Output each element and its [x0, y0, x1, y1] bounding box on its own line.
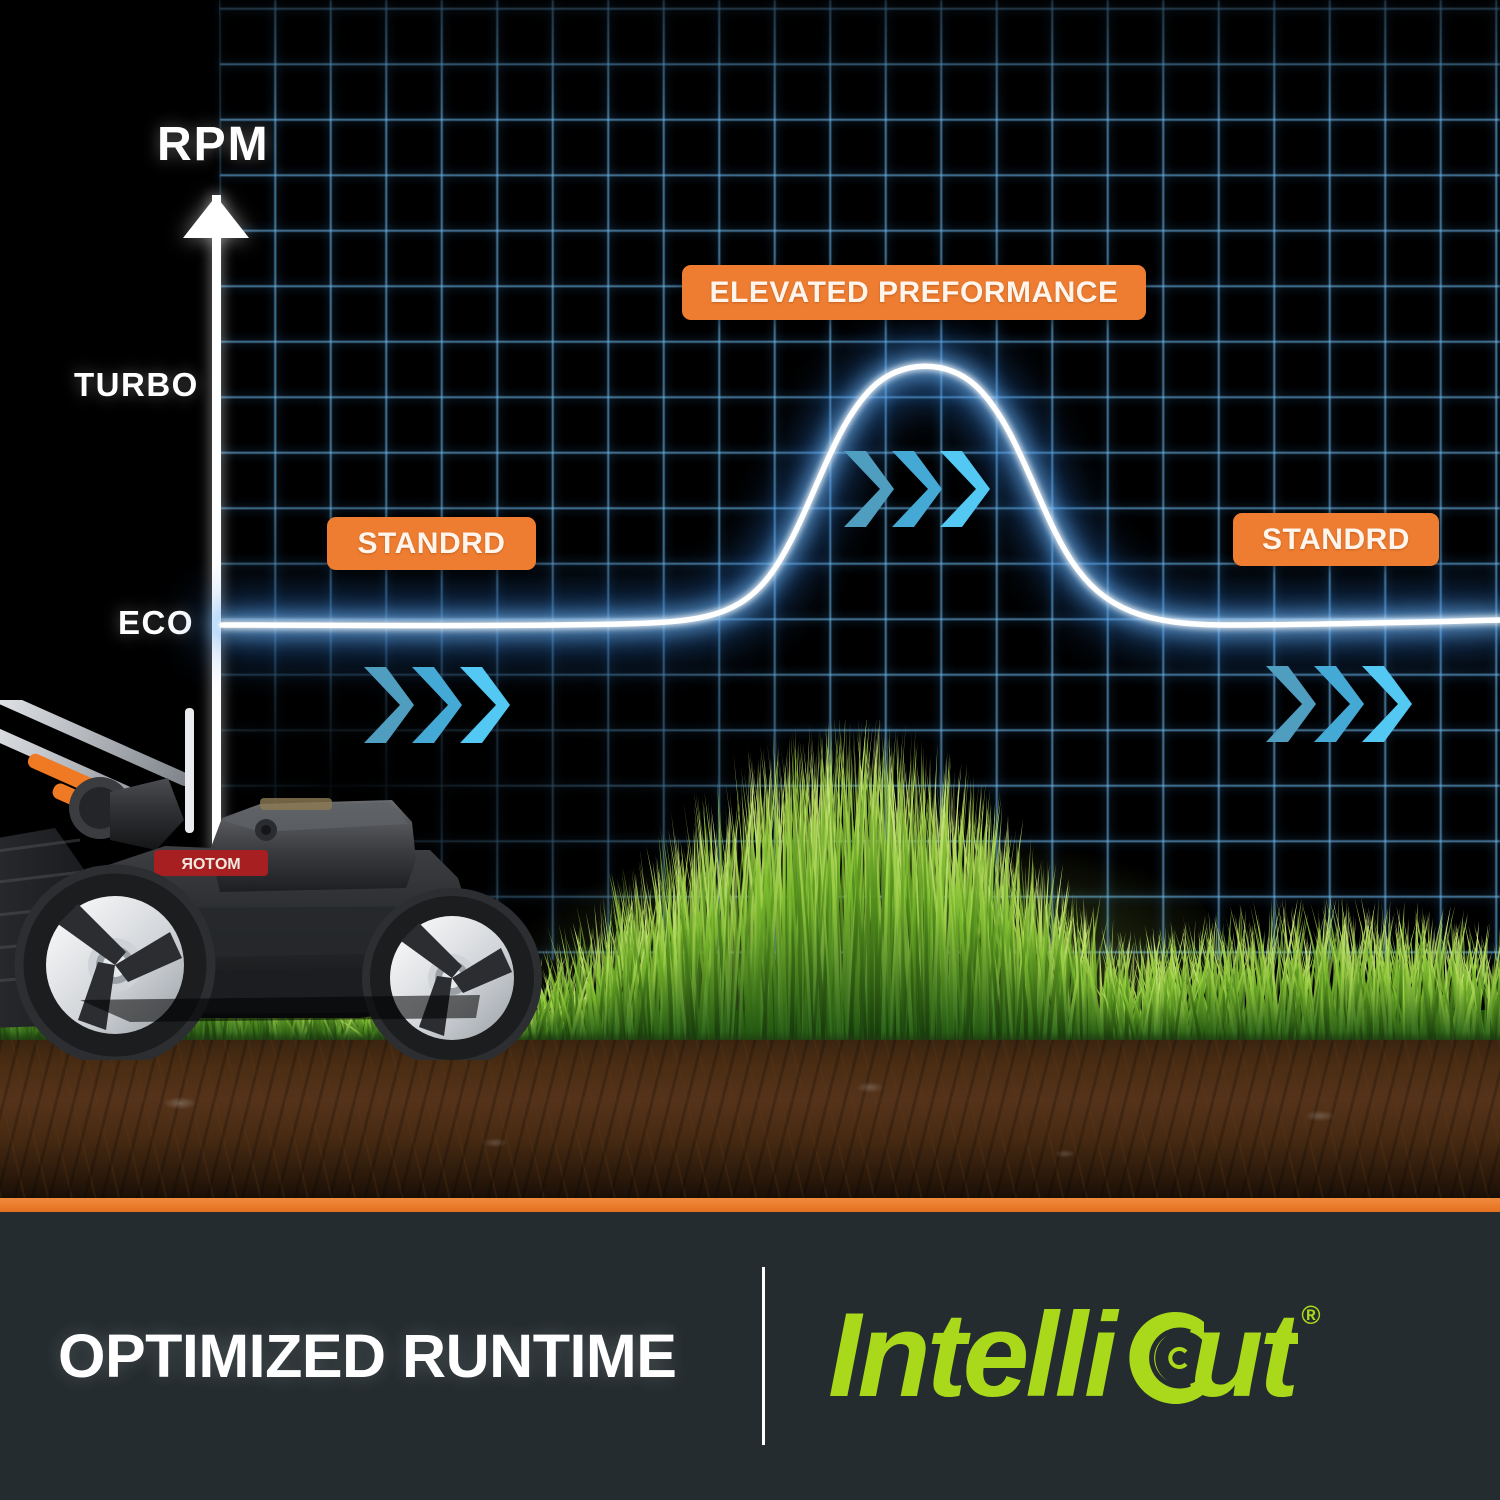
badge-elevated-performance: ELEVATED PREFORMANCE [682, 265, 1146, 320]
motor-label: MOTOR [181, 856, 241, 873]
lawn-mower-product-image: MOTOR [0, 700, 580, 1060]
orange-divider-bar [0, 1198, 1500, 1212]
footer-bar: OPTIMIZED RUNTIME Intelli [0, 1212, 1500, 1500]
soil-layer [0, 1040, 1500, 1198]
svg-text:Intelli: Intelli [828, 1292, 1120, 1420]
hero-visual: RPM TURBO ECO ELEVATED PREFORMANCE STAND… [0, 0, 1500, 1198]
footer-vertical-divider [762, 1267, 765, 1445]
badge-standard-left: STANDRD [327, 517, 536, 570]
chevron-icon [936, 447, 994, 531]
svg-text:ut: ut [1190, 1292, 1298, 1420]
intellicut-wordmark: Intelli ut [828, 1292, 1298, 1420]
brand-logo: Intelli ut [828, 1292, 1320, 1420]
badge-standard-right: STANDRD [1233, 513, 1439, 566]
chevron-group-middle [840, 447, 994, 531]
registered-trademark-mark: ® [1301, 1300, 1320, 1331]
footer-headline: OPTIMIZED RUNTIME [58, 1321, 676, 1391]
